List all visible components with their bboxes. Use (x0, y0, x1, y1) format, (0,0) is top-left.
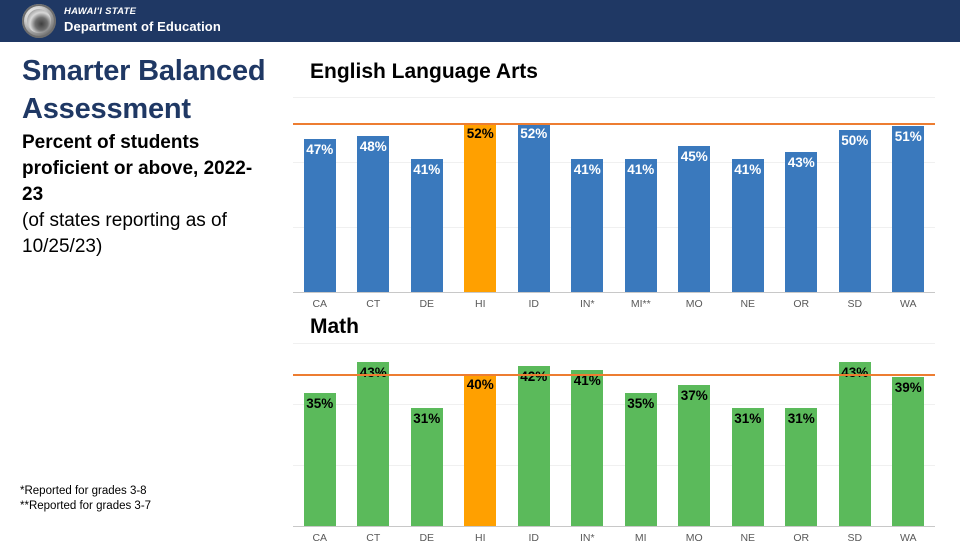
bar-value-label: 39% (895, 380, 922, 395)
bar-slot: 41% (614, 97, 668, 292)
bar-slot: 48% (347, 97, 401, 292)
bar-sd[interactable]: 50% (839, 130, 871, 293)
category-label-hi: HI (454, 532, 508, 544)
footnote-double-asterisk: **Reported for grades 3-7 (20, 499, 151, 514)
bar-id[interactable]: 52% (518, 123, 550, 292)
bar-slot: 42% (507, 343, 561, 526)
bar-mo[interactable]: 45% (678, 146, 710, 292)
bar-value-label: 48% (360, 139, 387, 154)
category-axis-labels: CACTDEHIIDIN*MIMONEORSDWA (293, 532, 935, 544)
bar-slot: 45% (668, 97, 722, 292)
category-axis-labels: CACTDEHIIDIN*MI**MONEORSDWA (293, 298, 935, 310)
bar-mi[interactable]: 35% (625, 393, 657, 526)
category-label-sd: SD (828, 298, 882, 310)
bar-slot: 39% (882, 343, 936, 526)
bar-slot: 41% (721, 97, 775, 292)
bar-slot: 52% (507, 97, 561, 292)
bar-slot: 51% (882, 97, 936, 292)
chart-math: Math 35%43%31%40%42%41%35%37%31%31%43%39… (285, 315, 935, 530)
bar-value-label: 40% (467, 377, 494, 392)
bar-value-label: 37% (681, 388, 708, 403)
bar-in[interactable]: 41% (571, 370, 603, 526)
footnote-block: *Reported for grades 3-8 **Reported for … (20, 484, 151, 514)
bar-slot: 31% (400, 343, 454, 526)
category-label-ne: NE (721, 298, 775, 310)
bar-or[interactable]: 31% (785, 408, 817, 526)
bar-value-label: 41% (734, 162, 761, 177)
header-agency-state: HAWAI'I STATE (64, 6, 221, 18)
category-label-mi: MI** (614, 298, 668, 310)
category-label-mo: MO (668, 298, 722, 310)
bar-slot: 31% (721, 343, 775, 526)
bar-wa[interactable]: 51% (892, 126, 924, 292)
bar-ca[interactable]: 47% (304, 139, 336, 292)
bar-ca[interactable]: 35% (304, 393, 336, 526)
bar-value-label: 52% (467, 126, 494, 141)
bar-sd[interactable]: 43% (839, 362, 871, 526)
bar-mo[interactable]: 37% (678, 385, 710, 526)
bar-or[interactable]: 43% (785, 152, 817, 292)
plot-area-math: 35%43%31%40%42%41%35%37%31%31%43%39%CACT… (293, 343, 935, 530)
bar-value-label: 47% (306, 142, 333, 157)
bar-value-label: 35% (627, 396, 654, 411)
reference-line-hawaii (293, 374, 935, 376)
chart-title-ela: English Language Arts (310, 60, 538, 84)
slide-title-block: Smarter Balanced Assessment Percent of s… (22, 52, 272, 260)
reference-line-hawaii (293, 123, 935, 125)
category-label-mi: MI (614, 532, 668, 544)
bar-value-label: 31% (413, 411, 440, 426)
header-text-group: HAWAI'I STATE Department of Education (64, 6, 221, 35)
category-label-ne: NE (721, 532, 775, 544)
bar-value-label: 41% (413, 162, 440, 177)
chart-title-math: Math (310, 315, 359, 339)
bar-slot: 40% (454, 343, 508, 526)
bar-value-label: 31% (788, 411, 815, 426)
bar-slot: 41% (561, 97, 615, 292)
bar-ct[interactable]: 48% (357, 136, 389, 292)
bar-slot: 50% (828, 97, 882, 292)
chart-x-axis (293, 526, 935, 527)
state-seal-inner (27, 9, 51, 33)
bar-ne[interactable]: 41% (732, 159, 764, 292)
bar-de[interactable]: 41% (411, 159, 443, 292)
bar-value-label: 52% (520, 126, 547, 141)
category-label-id: ID (507, 532, 561, 544)
page-subtitle: Percent of students proficient or above,… (22, 130, 272, 208)
bar-value-label: 43% (788, 155, 815, 170)
bar-series: 47%48%41%52%52%41%41%45%41%43%50%51% (293, 97, 935, 292)
category-label-in: IN* (561, 532, 615, 544)
bar-value-label: 42% (520, 369, 547, 384)
bar-slot: 41% (561, 343, 615, 526)
bar-value-label: 41% (574, 162, 601, 177)
bar-slot: 31% (775, 343, 829, 526)
category-label-wa: WA (882, 532, 936, 544)
chart-x-axis (293, 292, 935, 293)
bar-mi[interactable]: 41% (625, 159, 657, 292)
bar-slot: 43% (828, 343, 882, 526)
bar-wa[interactable]: 39% (892, 377, 924, 526)
category-label-ca: CA (293, 532, 347, 544)
category-label-or: OR (775, 532, 829, 544)
plot-area-ela: 47%48%41%52%52%41%41%45%41%43%50%51%CACT… (293, 97, 935, 275)
bar-slot: 47% (293, 97, 347, 292)
category-label-sd: SD (828, 532, 882, 544)
bar-hi[interactable]: 52% (464, 123, 496, 292)
bar-in[interactable]: 41% (571, 159, 603, 292)
category-label-de: DE (400, 298, 454, 310)
bar-series: 35%43%31%40%42%41%35%37%31%31%43%39% (293, 343, 935, 526)
bar-value-label: 51% (895, 129, 922, 144)
category-label-mo: MO (668, 532, 722, 544)
bar-ct[interactable]: 43% (357, 362, 389, 526)
page-note: (of states reporting as of 10/25/23) (22, 208, 272, 260)
site-header-bar: HAWAI'I STATE Department of Education (0, 0, 960, 42)
bar-id[interactable]: 42% (518, 366, 550, 526)
bar-value-label: 45% (681, 149, 708, 164)
bar-value-label: 50% (841, 133, 868, 148)
category-label-wa: WA (882, 298, 936, 310)
bar-slot: 35% (293, 343, 347, 526)
bar-slot: 37% (668, 343, 722, 526)
chart-english-language-arts: English Language Arts 47%48%41%52%52%41%… (285, 60, 935, 275)
bar-value-label: 41% (627, 162, 654, 177)
bar-de[interactable]: 31% (411, 408, 443, 526)
state-seal-icon (22, 4, 56, 38)
bar-value-label: 35% (306, 396, 333, 411)
category-label-id: ID (507, 298, 561, 310)
category-label-or: OR (775, 298, 829, 310)
bar-ne[interactable]: 31% (732, 408, 764, 526)
page-title: Smarter Balanced Assessment (22, 52, 272, 128)
bar-slot: 41% (400, 97, 454, 292)
bar-slot: 35% (614, 343, 668, 526)
bar-value-label: 31% (734, 411, 761, 426)
category-label-ct: CT (347, 532, 401, 544)
category-label-hi: HI (454, 298, 508, 310)
category-label-ca: CA (293, 298, 347, 310)
category-label-ct: CT (347, 298, 401, 310)
category-label-de: DE (400, 532, 454, 544)
header-agency-name: Department of Education (64, 18, 221, 35)
bar-slot: 52% (454, 97, 508, 292)
bar-slot: 43% (347, 343, 401, 526)
footnote-single-asterisk: *Reported for grades 3-8 (20, 484, 151, 499)
bar-slot: 43% (775, 97, 829, 292)
category-label-in: IN* (561, 298, 615, 310)
bar-hi[interactable]: 40% (464, 374, 496, 527)
